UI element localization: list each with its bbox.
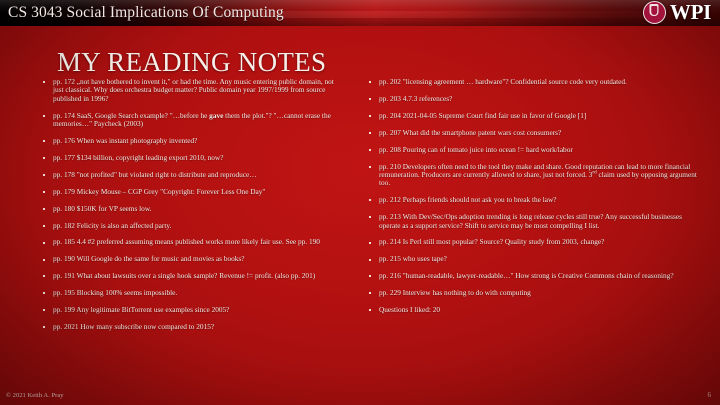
list-item-text-bold: gave xyxy=(209,111,223,120)
left-column: pp. 172 „not have bothered to invent it,… xyxy=(0,78,360,383)
list-item: pp. 2021 How many subscribe now compared… xyxy=(42,323,346,331)
left-bullet-list: pp. 172 „not have bothered to invent it,… xyxy=(42,78,346,331)
wpi-logo: WPI xyxy=(643,1,711,24)
slide-header-banner: CS 3043 Social Implications Of Computing xyxy=(0,0,720,26)
list-item: pp. 214 Is Perl still most popular? Sour… xyxy=(368,238,700,246)
list-item: pp. 207 What did the smartphone patent w… xyxy=(368,129,700,137)
copyright-notice: © 2021 Keith A. Pray xyxy=(6,391,64,400)
right-column: pp. 202 "licensing agreement … hardware"… xyxy=(360,78,720,383)
list-item: pp. 213 With Dev/Sec/Ops adoption trendi… xyxy=(368,213,700,230)
list-item: pp. 185 4.4 #2 preferred assuming means … xyxy=(42,238,346,246)
list-item: pp. 178 "not profited" but violated righ… xyxy=(42,171,346,179)
list-item: pp. 177 $134 billion, copyright leading … xyxy=(42,154,346,162)
list-item: pp. 210 Developers often need to the too… xyxy=(368,163,700,188)
list-item: pp. 176 When was instant photography inv… xyxy=(42,137,346,145)
list-item: pp. 202 "licensing agreement … hardware"… xyxy=(368,78,700,86)
list-item: pp. 182 Felicity is also an affected par… xyxy=(42,222,346,230)
list-item: pp. 180 $150K for VP seems low. xyxy=(42,205,346,213)
wpi-seal-icon xyxy=(643,1,666,24)
list-item: pp. 190 Will Google do the same for musi… xyxy=(42,255,346,263)
list-item: pp. 203 4.7.3 references? xyxy=(368,95,700,103)
list-item: Questions I liked: 20 xyxy=(368,306,700,314)
list-item: pp. 208 Pouring can of tomato juice into… xyxy=(368,146,700,154)
list-item: pp. 179 Mickey Mouse – CGP Grey "Copyrig… xyxy=(42,188,346,196)
list-item: pp. 204 2021-04-05 Supreme Court find fa… xyxy=(368,112,700,120)
list-item: pp. 191 What about lawsuits over a singl… xyxy=(42,272,346,280)
slide-page-number: 6 xyxy=(708,391,712,400)
list-item: pp. 212 Perhaps friends should not ask y… xyxy=(368,196,700,204)
list-item: pp. 172 „not have bothered to invent it,… xyxy=(42,78,346,103)
content-columns: pp. 172 „not have bothered to invent it,… xyxy=(0,78,720,383)
list-item: pp. 215 who uses tape? xyxy=(368,255,700,263)
list-item: pp. 195 Blocking 100% seems impossible. xyxy=(42,289,346,297)
slide-root: CS 3043 Social Implications Of Computing… xyxy=(0,0,720,405)
list-item: pp. 229 Interview has nothing to do with… xyxy=(368,289,700,297)
list-item: pp. 174 SaaS, Google Search example? "…b… xyxy=(42,112,346,129)
list-item: pp. 199 Any legitimate BitTorrent use ex… xyxy=(42,306,346,314)
wpi-logo-text: WPI xyxy=(670,2,711,23)
right-bullet-list: pp. 202 "licensing agreement … hardware"… xyxy=(368,78,700,315)
list-item: pp. 216 "human-readable, lawyer-readable… xyxy=(368,272,700,280)
page-title: MY READING NOTES xyxy=(57,47,326,77)
course-title: CS 3043 Social Implications Of Computing xyxy=(8,2,284,24)
